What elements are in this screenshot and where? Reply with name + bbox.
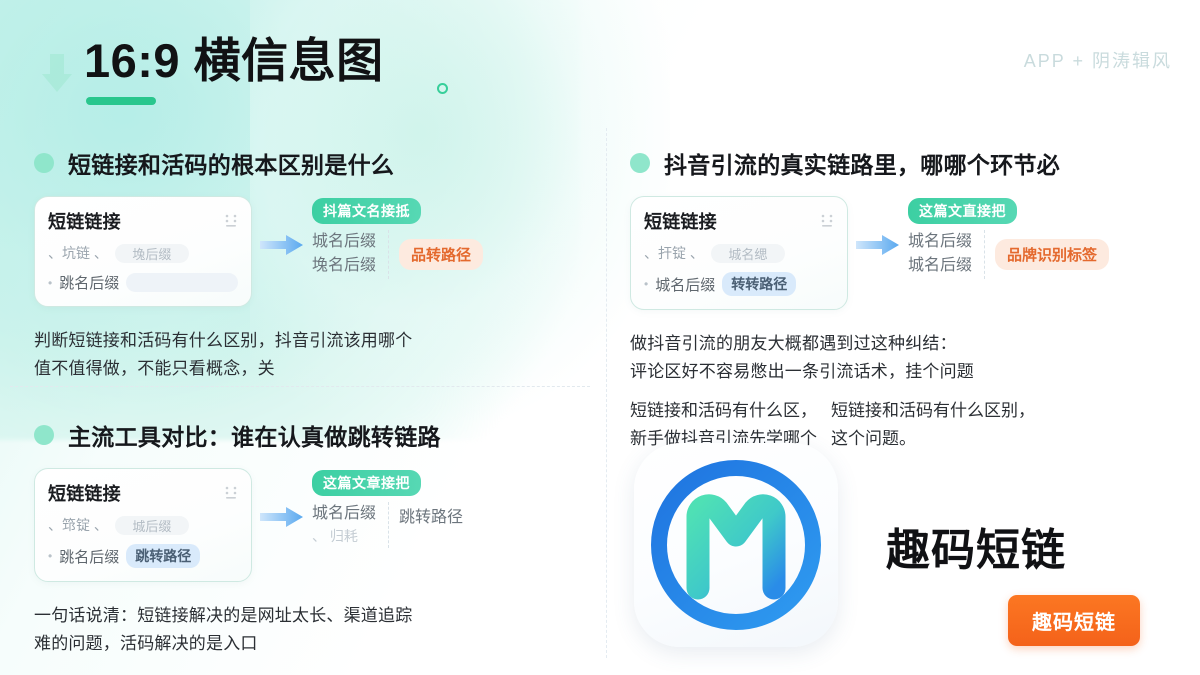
section-paragraph: 一句话说清：短链接解决的是网址太长、渠道追踪 难的问题，活码解决的是入口 xyxy=(34,602,594,657)
mock-row-1-pill: 城名缌 xyxy=(711,244,785,263)
grid-handle-icon[interactable] xyxy=(820,213,834,229)
mock-row-1-left: 、扞锭 、 xyxy=(644,243,704,263)
grid-handle-icon[interactable] xyxy=(224,485,238,501)
pane-column: 城名后缀 城名后缀 xyxy=(908,230,985,279)
mock-card[interactable]: 短链链接 、扞锭 、 城名缌 • 城名后缀 转转路径 xyxy=(630,196,848,310)
mock-card[interactable]: 短链链接 、筇锭 、 城后缀 • 跳名后缀 跳转路径 xyxy=(34,468,252,582)
pane-side-text: 跳转路径 xyxy=(399,502,463,527)
section-title: 主流工具对比：谁在认真做跳转链路 xyxy=(68,418,441,452)
paragraph-line: 值不值得做，不能只看概念，关 xyxy=(34,355,594,383)
header: 16:9 横信息图 APP + 阴涛辑风 xyxy=(0,0,1200,126)
bullet-dot-icon xyxy=(630,153,650,173)
section-heading: 抖音引流的真实链路里，哪哪个环节必 xyxy=(630,146,1190,180)
mock-widget: 短链链接 、扞锭 、 城名缌 • 城名后缀 转转路径 xyxy=(630,196,1190,310)
slide-root: 16:9 横信息图 APP + 阴涛辑风 短链接和活码的根本区别是什么 短链链接 xyxy=(0,0,1200,675)
pane-tag: 抖篇文名接抵 xyxy=(312,198,421,224)
ring-dot-icon xyxy=(437,83,448,94)
arrow-wrap xyxy=(252,196,312,256)
section-heading: 短链接和活码的根本区别是什么 xyxy=(34,146,594,180)
mock-bullet-icon: • xyxy=(644,277,648,291)
mock-row-1: 、筇锭 、 城后缀 xyxy=(48,515,238,535)
mock-row-1-left: 、筇锭 、 xyxy=(48,515,108,535)
right-arrow-icon xyxy=(260,506,304,528)
mock-widget: 短链链接 、筇锭 、 城后缀 • 跳名后缀 跳转路径 xyxy=(34,468,594,582)
right-arrow-icon xyxy=(856,234,900,256)
section-title: 短链接和活码的根本区别是什么 xyxy=(68,146,394,180)
paragraph-line: 判断短链接和活码有什么区别，抖音引流该用哪个 xyxy=(34,327,594,355)
mock-row-2-label: 跳名后缀 xyxy=(59,546,119,567)
brand-name: 趣码短链 xyxy=(886,514,1066,578)
mock-card-title: 短链链接 xyxy=(48,480,121,506)
mock-card-header: 短链链接 xyxy=(48,480,238,506)
paragraph-line: 做抖音引流的朋友大概都遇到过这种纠结： xyxy=(630,330,1190,358)
mock-bullet-icon: • xyxy=(48,276,52,290)
pane-tag: 这篇文直接把 xyxy=(908,198,1017,224)
paragraph-line: 难的问题，活码解决的是入口 xyxy=(34,630,594,658)
mock-row-1: 、坑链 、 堍后缀 xyxy=(48,243,238,263)
bullet-dot-icon xyxy=(34,425,54,445)
mock-card-header: 短链链接 xyxy=(48,208,238,234)
mock-bullet-icon: • xyxy=(48,549,52,563)
pane-rows: 城名后缀 、 归耗 跳转路径 xyxy=(312,502,463,548)
bullet-dot-icon xyxy=(34,153,54,173)
section-title: 抖音引流的真实链路里，哪哪个环节必 xyxy=(664,146,1060,180)
mock-row-1-left: 、坑链 、 xyxy=(48,243,108,263)
pane-line: 城名后缀 xyxy=(312,230,376,254)
pane-line: 城名后缀 xyxy=(908,230,972,254)
section-douyin-chain: 抖音引流的真实链路里，哪哪个环节必 短链链接 、扞锭 、 城名缌 • xyxy=(630,146,1190,452)
mock-row-2-chip[interactable]: 跳转路径 xyxy=(126,544,200,568)
pane-side-tag: 品转路径 xyxy=(399,239,483,270)
down-arrow-icon xyxy=(40,52,74,94)
page-title: 16:9 横信息图 xyxy=(84,36,384,87)
mock-row-1-pill: 堍后缀 xyxy=(115,244,189,263)
section-paragraph: 做抖音引流的朋友大概都遇到过这种纠结： 评论区好不容易憋出一条引流话术，挂个问题 xyxy=(630,330,1190,385)
right-arrow-icon xyxy=(260,234,304,256)
mock-card[interactable]: 短链链接 、坑链 、 堍后缀 • 跳名后缀 xyxy=(34,196,252,307)
paragraph-column: 短链接和活码有什么区别， 这个问题。 xyxy=(831,397,1035,452)
mock-right-pane: 这篇文直接把 城名后缀 城名后缀 品牌识别标签 xyxy=(908,196,1109,279)
pane-line: 城名后缀 xyxy=(312,502,376,526)
mock-row-1: 、扞锭 、 城名缌 xyxy=(644,243,834,263)
vertical-divider xyxy=(606,128,607,658)
watermark-text: APP + 阴涛辑风 xyxy=(1024,47,1172,73)
mock-right-pane: 这篇文章接把 城名后缀 、 归耗 跳转路径 xyxy=(312,468,463,548)
mock-row-2: • 城名后缀 转转路径 xyxy=(644,272,834,296)
section-tool-compare: 主流工具对比：谁在认真做跳转链路 短链链接 、筇锭 、 城后缀 • xyxy=(34,418,594,657)
pane-rows: 城名后缀 堍名后缀 品转路径 xyxy=(312,230,483,279)
mock-widget: 短链链接 、坑链 、 堍后缀 • 跳名后缀 xyxy=(34,196,594,307)
pane-column: 城名后缀 、 归耗 xyxy=(312,502,389,548)
mock-card-title: 短链链接 xyxy=(644,208,717,234)
pane-line: 堍名后缀 xyxy=(312,254,376,278)
section-root-difference: 短链接和活码的根本区别是什么 短链链接 、坑链 、 堍后缀 • xyxy=(34,146,594,382)
mock-card-title: 短链链接 xyxy=(48,208,121,234)
pane-line-ghost: 、 归耗 xyxy=(312,526,376,547)
paragraph-line: 评论区好不容易憋出一条引流话术，挂个问题 xyxy=(630,358,1190,386)
qumashort-app-icon[interactable] xyxy=(634,443,838,647)
pane-side-tag: 品牌识别标签 xyxy=(995,239,1109,270)
mock-row-2-label: 城名后缀 xyxy=(655,274,715,295)
brand-cta-button[interactable]: 趣码短链 xyxy=(1008,595,1140,646)
mock-row-2-chip[interactable]: 转转路径 xyxy=(722,272,796,296)
mock-row-2-label: 跳名后缀 xyxy=(59,272,119,293)
arrow-wrap xyxy=(252,468,312,528)
mock-row-2: • 跳名后缀 跳转路径 xyxy=(48,544,238,568)
mock-card-header: 短链链接 xyxy=(644,208,834,234)
pane-tag: 这篇文章接把 xyxy=(312,470,421,496)
paragraph-line: 短链接和活码有什么区别， xyxy=(831,397,1035,425)
paragraph-line: 短链接和活码有什么区， xyxy=(630,397,817,425)
pane-column: 城名后缀 堍名后缀 xyxy=(312,230,389,279)
arrow-wrap xyxy=(848,196,908,256)
pane-rows: 城名后缀 城名后缀 品牌识别标签 xyxy=(908,230,1109,279)
title-underline xyxy=(86,97,156,105)
pane-line: 城名后缀 xyxy=(908,254,972,278)
mock-row-1-pill: 城后缀 xyxy=(115,516,189,535)
paragraph-line: 这个问题。 xyxy=(831,425,1035,453)
mock-row-2-bar xyxy=(126,273,238,292)
section-paragraph: 判断短链接和活码有什么区别，抖音引流该用哪个 值不值得做，不能只看概念，关 xyxy=(34,327,594,382)
mock-row-2: • 跳名后缀 xyxy=(48,272,238,293)
mock-right-pane: 抖篇文名接抵 城名后缀 堍名后缀 品转路径 xyxy=(312,196,483,279)
grid-handle-icon[interactable] xyxy=(224,213,238,229)
paragraph-line: 一句话说清：短链接解决的是网址太长、渠道追踪 xyxy=(34,602,594,630)
app-logo-mark xyxy=(634,443,838,647)
section-heading: 主流工具对比：谁在认真做跳转链路 xyxy=(34,418,594,452)
horizontal-divider xyxy=(10,386,590,387)
